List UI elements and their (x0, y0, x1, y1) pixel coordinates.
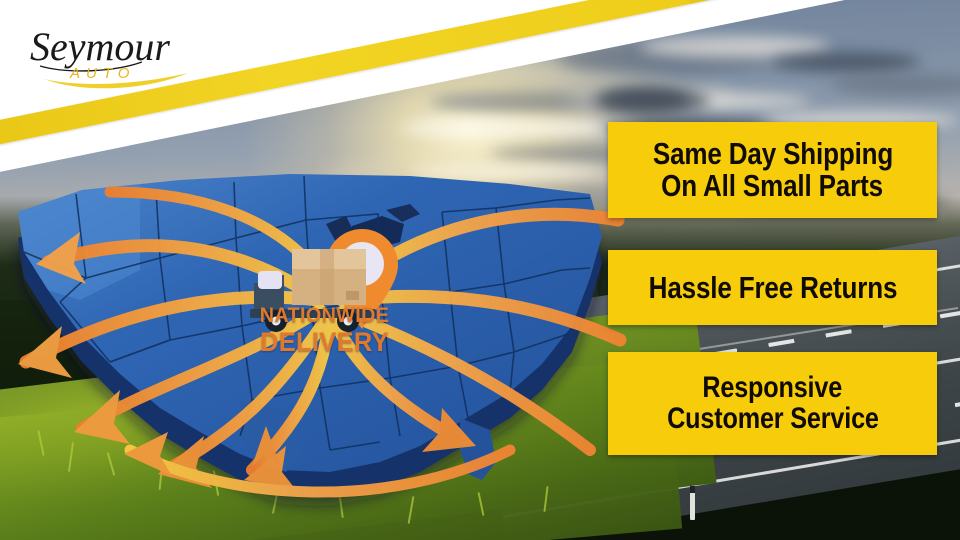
banner3-line2: Customer Service (667, 404, 879, 435)
cardboard-box-icon (292, 249, 366, 305)
banner2-line1: Hassle Free Returns (648, 272, 897, 304)
banner1-line1: Same Day Shipping (652, 138, 892, 170)
banner-responsive-customer-service[interactable]: Responsive Customer Service (608, 352, 937, 455)
seymour-auto-logo[interactable]: Seymour AUTO (22, 16, 212, 98)
banner3-line1: Responsive (703, 373, 843, 404)
cloud (600, 88, 690, 110)
logo-script-text: Seymour (30, 24, 170, 69)
delivery-line: DELIVERY (256, 329, 392, 356)
banner-hassle-free-returns[interactable]: Hassle Free Returns (608, 250, 937, 325)
nationwide-delivery-label: NATIONWIDE DELIVERY (252, 305, 397, 356)
banner-same-day-shipping[interactable]: Same Day Shipping On All Small Parts (608, 122, 937, 218)
roadside-post (690, 486, 695, 520)
logo-auto-text: AUTO (69, 65, 135, 82)
cloud (770, 52, 920, 72)
cloud (430, 92, 600, 112)
nationwide-line: NATIONWIDE (256, 305, 392, 326)
banner1-line2: On All Small Parts (662, 170, 884, 202)
promo-banner-image: NATIONWIDE DELIVERY Seymour AUTO Same Da… (0, 0, 960, 540)
